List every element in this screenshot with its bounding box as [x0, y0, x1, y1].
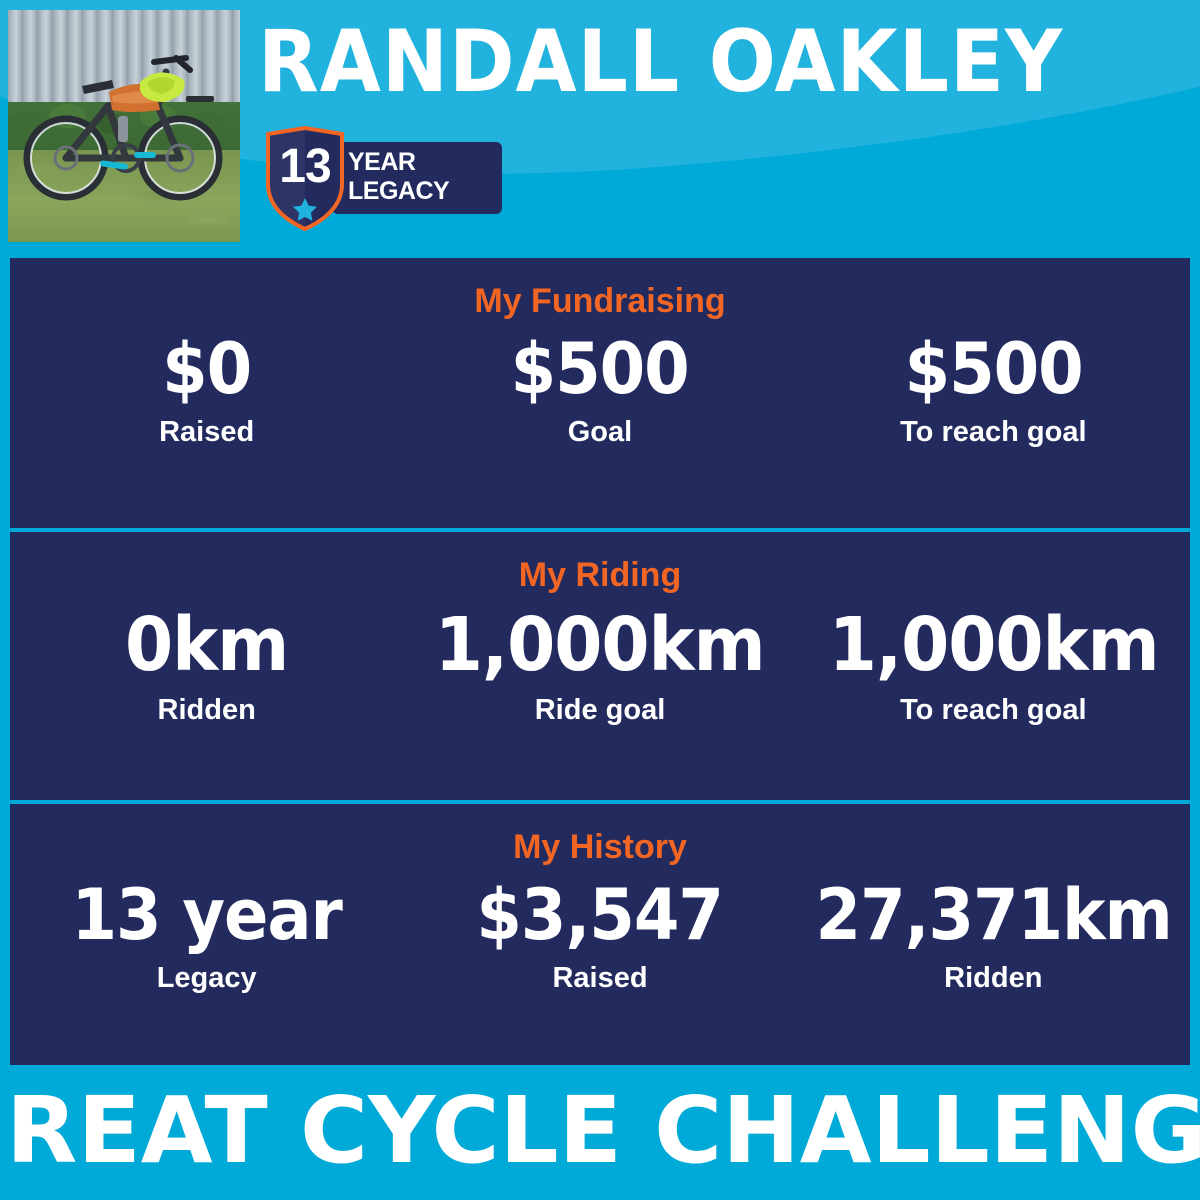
stat-label: Raised: [409, 960, 790, 996]
stat-label: Ride goal: [409, 692, 790, 728]
fundraiser-poster: Randall Oakley 13 YEAR LEGACY My Fundr: [0, 0, 1200, 1200]
stat-value: $500: [402, 328, 799, 410]
section-title-history: My History: [10, 828, 1190, 867]
legacy-badge-line1: YEAR: [348, 148, 508, 177]
section-title-riding: My Riding: [10, 556, 1190, 595]
stat-group-riding: 0km Ridden 1,000km Ride goal 1,000km To …: [10, 602, 1190, 728]
stat-label: To reach goal: [803, 692, 1184, 728]
athlete-photo: [8, 10, 240, 242]
stat-label: Legacy: [16, 960, 397, 996]
stat-label: Ridden: [803, 960, 1184, 996]
stat-label: Goal: [409, 414, 790, 450]
stat-value: $0: [8, 328, 405, 410]
stat-ride-goal: 1,000km Ride goal: [403, 602, 796, 728]
section-riding: My Riding 0km Ridden 1,000km Ride goal 1…: [10, 532, 1190, 800]
stat-value: 0km: [8, 602, 405, 688]
stat-value: 1,000km: [795, 602, 1192, 688]
stat-label: Raised: [16, 414, 397, 450]
stat-raised: $0 Raised: [10, 328, 403, 450]
stat-label: Ridden: [16, 692, 397, 728]
legacy-badge: 13 YEAR LEGACY: [262, 126, 502, 232]
stats-panel: My Fundraising $0 Raised $500 Goal $500 …: [10, 258, 1190, 1065]
stat-value: 27,371km: [795, 874, 1192, 956]
photo-scene: [8, 10, 240, 242]
stat-value: $500: [795, 328, 1192, 410]
stat-km-to-reach-goal: 1,000km To reach goal: [797, 602, 1190, 728]
legacy-years-value: 13: [262, 139, 348, 194]
bicycle-illustration: [8, 10, 240, 242]
stat-ridden: 0km Ridden: [10, 602, 403, 728]
footer-banner: GREAT CYCLE CHALLENGE: [0, 1065, 1200, 1200]
stat-label: To reach goal: [803, 414, 1184, 450]
stat-legacy: 13 year Legacy: [10, 874, 403, 996]
legacy-badge-label: YEAR LEGACY: [348, 148, 508, 206]
stat-value: 1,000km: [402, 602, 799, 688]
header-banner: Randall Oakley 13 YEAR LEGACY: [0, 0, 1200, 258]
stat-group-fundraising: $0 Raised $500 Goal $500 To reach goal: [10, 328, 1190, 450]
stat-value: 13 year: [8, 874, 405, 956]
section-title-fundraising: My Fundraising: [10, 282, 1190, 321]
section-fundraising: My Fundraising $0 Raised $500 Goal $500 …: [10, 258, 1190, 528]
stat-lifetime-ridden: 27,371km Ridden: [797, 874, 1190, 996]
stat-goal: $500 Goal: [403, 328, 796, 450]
stat-lifetime-raised: $3,547 Raised: [403, 874, 796, 996]
stat-to-reach-goal: $500 To reach goal: [797, 328, 1190, 450]
legacy-badge-line2: LEGACY: [348, 177, 508, 206]
brand-wordmark: GREAT CYCLE CHALLENGE: [0, 1079, 1200, 1183]
page-title: Randall Oakley: [258, 14, 1196, 110]
stat-group-history: 13 year Legacy $3,547 Raised 27,371km Ri…: [10, 874, 1190, 996]
section-history: My History 13 year Legacy $3,547 Raised …: [10, 804, 1190, 1065]
stat-value: $3,547: [402, 874, 799, 956]
